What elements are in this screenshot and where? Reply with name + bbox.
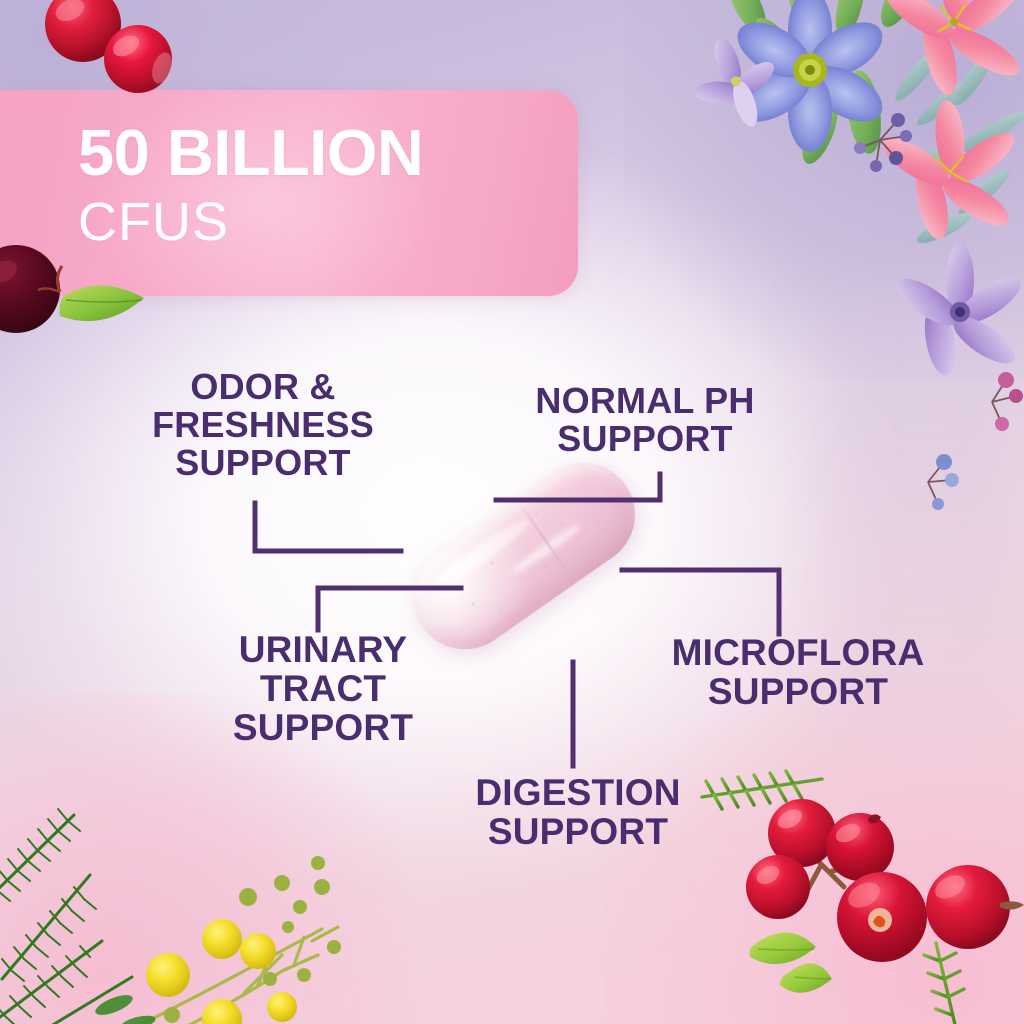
benefit-label-normal-ph: NORMAL PH SUPPORT [480,382,810,458]
cfu-banner: 50 BILLION CFUS [0,90,578,296]
benefit-label-microflora: MICROFLORA SUPPORT [628,633,968,711]
benefit-label-urinary-tract: URINARY TRACT SUPPORT [178,630,468,748]
benefit-label-odor-freshness: ODOR & FRESHNESS SUPPORT [118,368,408,482]
infographic-canvas: 50 BILLION CFUS ODOR & FRESHNESS SUPPORT… [0,0,1024,1024]
benefit-label-digestion: DIGESTION SUPPORT [428,773,728,851]
banner-subhead: CFUS [78,191,554,253]
banner-headline: 50 BILLION [78,120,554,185]
